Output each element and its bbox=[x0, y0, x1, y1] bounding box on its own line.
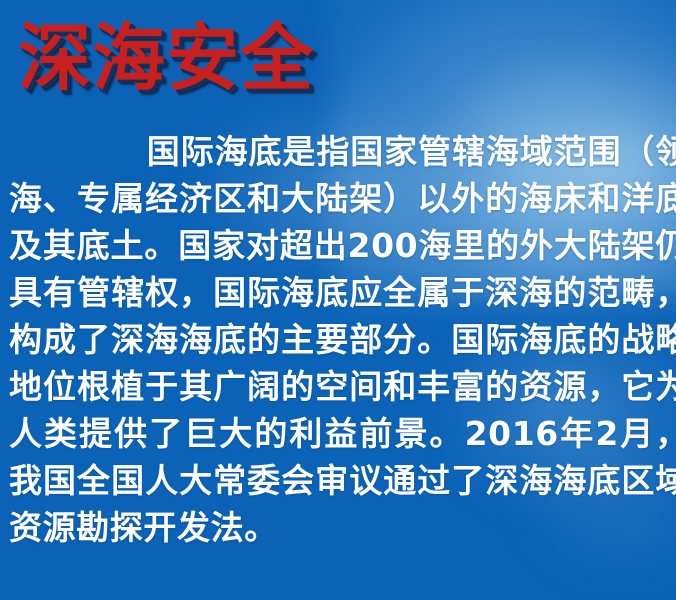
poster-body-text: 国际海底是指国家管辖海域范围（领海、专属经济区和大陆架）以外的海床和洋底及其底土… bbox=[9, 128, 676, 551]
poster-title: 深海安全 bbox=[18, 20, 314, 97]
poster-canvas: 深海安全 国际海底是指国家管辖海域范围（领海、专属经济区和大陆架）以外的海床和洋… bbox=[0, 0, 676, 600]
